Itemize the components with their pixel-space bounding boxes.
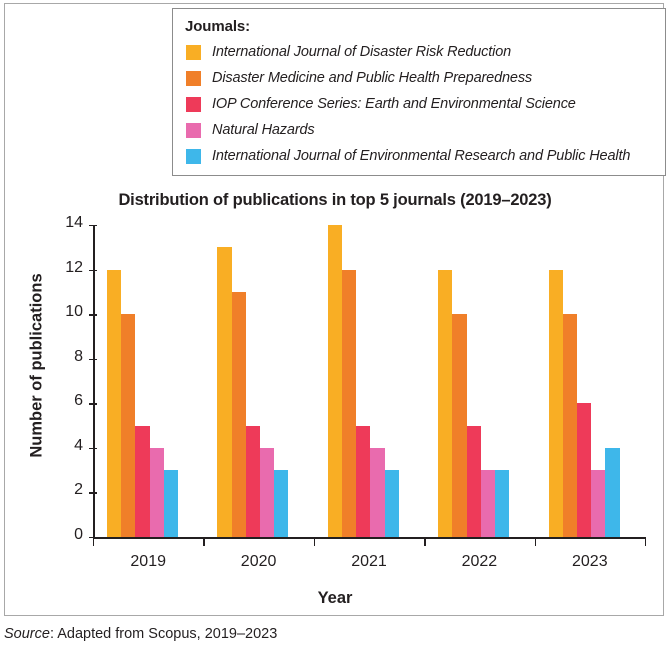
y-axis-tick-label: 2 bbox=[74, 481, 83, 499]
y-axis-tick: 14 bbox=[89, 225, 97, 226]
x-axis-tick-label: 2020 bbox=[241, 553, 277, 571]
bar bbox=[577, 403, 591, 537]
bar bbox=[438, 270, 452, 537]
y-axis-tick-label: 4 bbox=[74, 437, 83, 455]
legend-entry-label: International Journal of Environmental R… bbox=[212, 148, 630, 164]
legend-entry-label: IOP Conference Series: Earth and Environ… bbox=[212, 96, 576, 112]
legend-entry-list: International Journal of Disaster Risk R… bbox=[184, 39, 655, 169]
bar bbox=[342, 270, 356, 537]
bar bbox=[328, 225, 342, 537]
y-axis-tick-label: 0 bbox=[74, 526, 83, 544]
legend-entry[interactable]: International Journal of Disaster Risk R… bbox=[184, 39, 655, 65]
bar bbox=[150, 448, 164, 537]
bar bbox=[605, 448, 619, 537]
x-axis-tick-label: 2019 bbox=[130, 553, 166, 571]
y-axis-tick-label: 8 bbox=[74, 348, 83, 366]
x-axis-tick-label: 2021 bbox=[351, 553, 387, 571]
chart-title: Distribution of publications in top 5 jo… bbox=[5, 191, 665, 210]
x-axis-tick bbox=[645, 537, 646, 546]
bar bbox=[135, 426, 149, 537]
x-axis-title: Year bbox=[5, 589, 665, 608]
y-axis-tick-label: 14 bbox=[65, 214, 83, 232]
plot-area: 02468101214 20192020202120222023 bbox=[89, 220, 649, 545]
bar bbox=[481, 470, 495, 537]
x-axis-tick bbox=[535, 537, 536, 546]
x-axis-tick-label: 2023 bbox=[572, 553, 608, 571]
bar bbox=[467, 426, 481, 537]
x-axis-tick bbox=[424, 537, 425, 546]
bar bbox=[217, 247, 231, 537]
bar bbox=[356, 426, 370, 537]
x-axis-tick bbox=[93, 537, 94, 546]
legend-color-swatch-icon bbox=[186, 123, 201, 138]
legend-entry[interactable]: International Journal of Environmental R… bbox=[184, 143, 655, 169]
y-axis-tick: 8 bbox=[89, 359, 97, 360]
x-axis-tick bbox=[203, 537, 204, 546]
bar bbox=[260, 448, 274, 537]
legend-entry[interactable]: Natural Hazards bbox=[184, 117, 655, 143]
bar bbox=[121, 314, 135, 537]
source-label: Source bbox=[4, 626, 50, 642]
bar bbox=[549, 270, 563, 537]
bar bbox=[370, 448, 384, 537]
y-axis-tick: 2 bbox=[89, 492, 97, 493]
bar bbox=[495, 470, 509, 537]
legend-entry-label: International Journal of Disaster Risk R… bbox=[212, 44, 511, 60]
bar bbox=[232, 292, 246, 537]
y-axis-tick: 4 bbox=[89, 448, 97, 449]
y-axis-line bbox=[93, 225, 95, 537]
y-axis-tick-label: 12 bbox=[65, 259, 83, 277]
legend-color-swatch-icon bbox=[186, 97, 201, 112]
x-axis-tick-label: 2022 bbox=[462, 553, 498, 571]
y-axis-tick: 10 bbox=[89, 314, 97, 315]
figure-panel: Joumals: International Journal of Disast… bbox=[4, 3, 664, 616]
bar bbox=[246, 426, 260, 537]
y-axis-title: Number of publications bbox=[28, 236, 47, 496]
legend-entry[interactable]: Disaster Medicine and Public Health Prep… bbox=[184, 65, 655, 91]
legend-color-swatch-icon bbox=[186, 45, 201, 60]
legend-entry-label: Disaster Medicine and Public Health Prep… bbox=[212, 70, 532, 86]
source-caption: Source: Adapted from Scopus, 2019–2023 bbox=[4, 626, 277, 642]
legend-title: Joumals: bbox=[185, 18, 655, 35]
y-axis-tick-label: 10 bbox=[65, 303, 83, 321]
bar bbox=[274, 470, 288, 537]
y-axis-tick: 6 bbox=[89, 403, 97, 404]
chart-legend: Joumals: International Journal of Disast… bbox=[172, 8, 666, 176]
y-axis-tick: 12 bbox=[89, 270, 97, 271]
bar bbox=[452, 314, 466, 537]
bar bbox=[164, 470, 178, 537]
x-axis-line bbox=[93, 537, 645, 539]
x-axis-tick bbox=[314, 537, 315, 546]
bar bbox=[107, 270, 121, 537]
y-axis-tick-label: 6 bbox=[74, 392, 83, 410]
legend-color-swatch-icon bbox=[186, 149, 201, 164]
bar bbox=[563, 314, 577, 537]
legend-color-swatch-icon bbox=[186, 71, 201, 86]
legend-entry-label: Natural Hazards bbox=[212, 122, 315, 138]
legend-entry[interactable]: IOP Conference Series: Earth and Environ… bbox=[184, 91, 655, 117]
bar bbox=[385, 470, 399, 537]
figure-root: Joumals: International Journal of Disast… bbox=[0, 0, 670, 651]
bar bbox=[591, 470, 605, 537]
source-text: : Adapted from Scopus, 2019–2023 bbox=[50, 626, 277, 642]
